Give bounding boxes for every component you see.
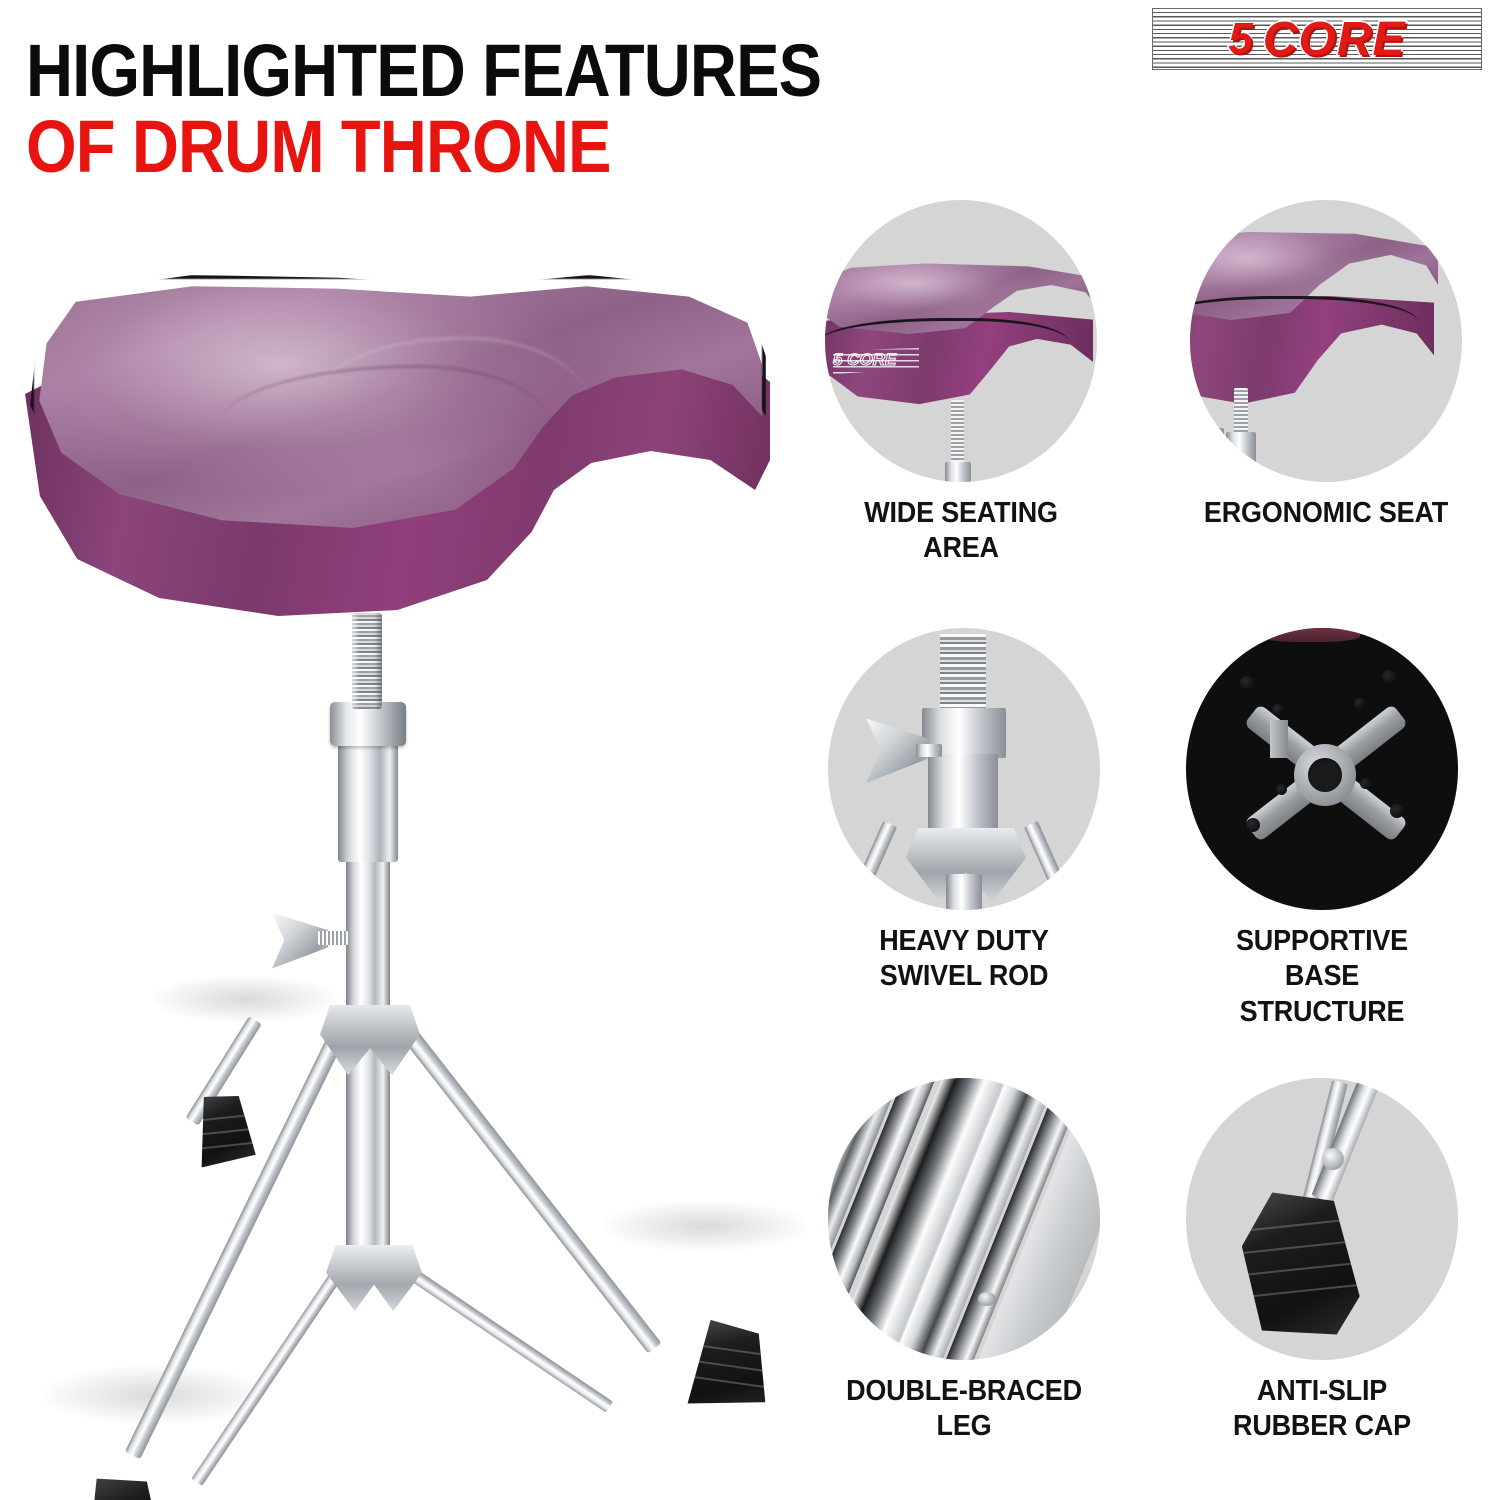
feature-supportive-base-structure: SUPPORTIVE BASE STRUCTURE <box>1186 628 1458 1008</box>
mini-foot-rib <box>1247 1284 1359 1298</box>
feature-label-wrap-heavy-duty-swivel-rod: HEAVY DUTY SWIVEL ROD <box>828 924 1100 995</box>
base-bolt-hole-sw <box>1246 818 1260 832</box>
feature-label-heavy-duty-swivel-rod: HEAVY DUTY SWIVEL ROD <box>838 924 1091 995</box>
feature-label-wrap-double-braced-leg: DOUBLE-BRACED LEG <box>828 1374 1100 1445</box>
feature-label-double-braced-leg: DOUBLE-BRACED LEG <box>838 1374 1091 1445</box>
feature-thumbnail-wide-seating-area: 5 CORE <box>825 200 1097 482</box>
infographic-page: HIGHLIGHTED FEATURES OF DRUM THRONE 5 CO… <box>0 0 1500 1500</box>
foot-rib <box>688 1375 767 1388</box>
mini-threaded-rod <box>940 634 986 716</box>
mini-wing-screw-shaft <box>916 744 942 757</box>
brand-logo-core: CORE <box>1263 12 1406 67</box>
feature-label-wide-seating-area: WIDE SEATING AREA <box>835 496 1088 567</box>
title-line-1: HIGHLIGHTED FEATURES <box>26 36 821 106</box>
wing-screw-shaft <box>318 931 348 945</box>
mini-threaded-rod <box>1234 388 1248 438</box>
feature-thumbnail-heavy-duty-swivel-rod <box>828 628 1100 910</box>
title-line-2: OF DRUM THRONE <box>26 112 821 182</box>
base-inner-hole-se <box>1360 778 1371 789</box>
feature-label-supportive-base-structure: SUPPORTIVE BASE STRUCTURE <box>1196 924 1449 1030</box>
feature-label-ergonomic-seat: ERGONOMIC SEAT <box>1200 496 1453 531</box>
feature-anti-slip-rubber-cap: ANTI-SLIP RUBBER CAP <box>1186 1078 1458 1458</box>
mini-seat-underside-strip <box>1260 628 1360 642</box>
base-bolt-hole-nw <box>1240 676 1254 690</box>
mini-leg-left <box>846 821 897 910</box>
lower-leg-hinge-bracket <box>326 1245 422 1311</box>
feature-double-braced-leg: DOUBLE-BRACED LEG <box>828 1078 1100 1458</box>
product-hero-image: 5 CORE ® <box>0 215 800 1460</box>
brand-logo: 5 CORE <box>1152 8 1482 70</box>
chrome-rivet <box>978 1292 996 1306</box>
foot-rib <box>690 1359 769 1372</box>
mini-rubber-foot <box>1237 1185 1364 1344</box>
base-inner-hole-ne <box>1354 698 1365 709</box>
feature-heavy-duty-swivel-rod: HEAVY DUTY SWIVEL ROD <box>828 628 1100 1008</box>
floor-shadow-back <box>150 975 340 1023</box>
feature-label-wrap-supportive-base-structure: SUPPORTIVE BASE STRUCTURE <box>1186 924 1458 1030</box>
floor-shadow-right <box>600 1200 810 1252</box>
feature-label-anti-slip-rubber-cap: ANTI-SLIP RUBBER CAP <box>1196 1374 1449 1445</box>
mini-seat-emblem-text: 5 CORE <box>833 350 896 370</box>
feature-thumbnail-supportive-base-structure <box>1186 628 1458 910</box>
base-bolt-hole-se <box>1390 804 1404 818</box>
foot-rib <box>692 1344 771 1357</box>
foot-rib <box>195 1142 255 1150</box>
mini-threaded-rod <box>951 400 964 468</box>
base-center-hole <box>1308 758 1342 792</box>
mini-wing-screw <box>1190 428 1224 442</box>
mini-rod-collar <box>1226 432 1256 472</box>
threaded-swivel-rod <box>352 613 382 709</box>
feature-wide-seating-area: 5 CORE WIDE SEATING AREA <box>825 200 1097 540</box>
rubber-foot-left <box>74 1474 167 1500</box>
mini-foot-rib <box>1240 1218 1352 1232</box>
feature-thumbnail-ergonomic-seat <box>1190 200 1462 482</box>
mini-rod-collar <box>945 462 971 482</box>
stand-leg-right <box>402 1028 662 1354</box>
tripod-stand <box>0 215 800 1460</box>
feature-label-wrap-ergonomic-seat: ERGONOMIC SEAT <box>1190 496 1462 531</box>
feature-thumbnail-double-braced-leg <box>828 1078 1100 1360</box>
base-inner-hole-nw <box>1272 704 1283 715</box>
feature-thumbnail-anti-slip-rubber-cap <box>1186 1078 1458 1360</box>
page-title: HIGHLIGHTED FEATURES OF DRUM THRONE <box>26 36 930 183</box>
base-bolt-hole-ne <box>1382 670 1396 684</box>
stand-brace-right <box>407 1268 613 1413</box>
mini-leg-right <box>1024 821 1075 910</box>
mini-foot-rib <box>1245 1262 1357 1276</box>
foot-rib <box>193 1128 253 1136</box>
feature-label-wrap-wide-seating-area: WIDE SEATING AREA <box>825 496 1097 567</box>
mini-foot-rib <box>1242 1240 1354 1254</box>
brand-logo-wordmark: 5 CORE <box>1152 8 1482 70</box>
rubber-foot-right <box>684 1318 775 1414</box>
base-inner-hole-sw <box>1276 784 1287 795</box>
feature-label-wrap-anti-slip-rubber-cap: ANTI-SLIP RUBBER CAP <box>1186 1374 1458 1445</box>
height-adjust-cylinder <box>338 742 398 862</box>
feature-ergonomic-seat: ERGONOMIC SEAT <box>1190 200 1462 540</box>
base-side-tab <box>1270 720 1288 758</box>
mini-leg-rivet <box>1322 1148 1344 1170</box>
brand-logo-five: 5 <box>1228 14 1252 64</box>
mini-center-tube <box>946 874 982 910</box>
